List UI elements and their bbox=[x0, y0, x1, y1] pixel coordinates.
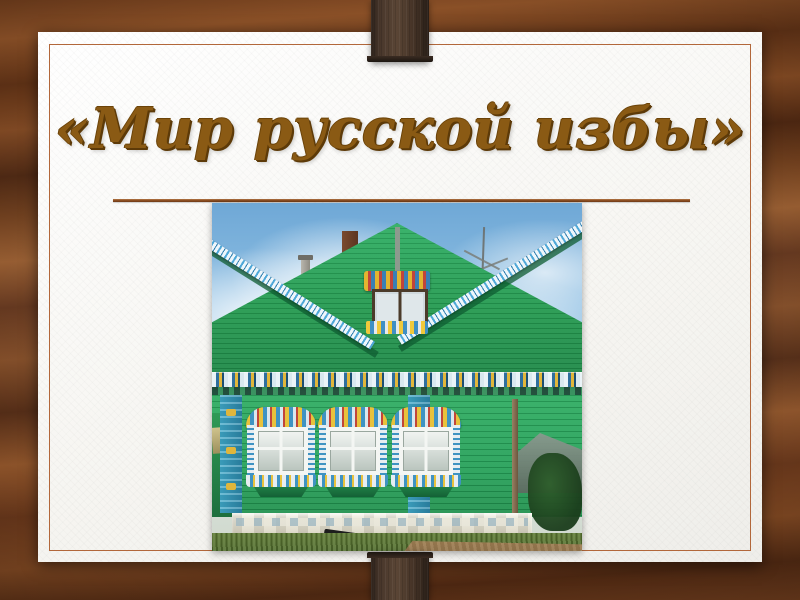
page-title-text: «Мир русской избы» bbox=[55, 96, 746, 162]
window-side-trim bbox=[453, 425, 460, 477]
attic-window bbox=[364, 275, 430, 337]
strap-top bbox=[371, 0, 429, 62]
window-side-trim bbox=[380, 425, 387, 477]
window-crown-carving bbox=[391, 407, 461, 429]
window-side-trim bbox=[247, 425, 254, 477]
window-apron bbox=[399, 487, 453, 497]
corner-pilaster-left bbox=[220, 395, 242, 513]
window-side-trim bbox=[392, 425, 399, 477]
window-side-trim bbox=[319, 425, 326, 477]
pilaster-stud bbox=[226, 447, 236, 454]
presentation-slide: «Мир русской избы» bbox=[0, 0, 800, 600]
window-side-trim bbox=[308, 425, 315, 477]
window-sill-carving bbox=[246, 475, 316, 487]
decorative-cornice bbox=[212, 372, 582, 387]
title-divider bbox=[113, 199, 690, 202]
window-glass bbox=[254, 427, 308, 475]
cornice-shadow-band bbox=[212, 387, 582, 395]
attic-window-apron bbox=[366, 321, 428, 334]
house-window bbox=[397, 409, 455, 495]
window-sill-carving bbox=[391, 475, 461, 487]
window-apron bbox=[254, 487, 308, 497]
pilaster-stud bbox=[226, 409, 236, 416]
attic-window-crown bbox=[364, 271, 430, 291]
bush bbox=[528, 453, 582, 531]
window-glass bbox=[326, 427, 380, 475]
window-glass bbox=[399, 427, 453, 475]
pilaster-stud bbox=[226, 483, 236, 490]
page-title: «Мир русской избы» bbox=[0, 86, 800, 172]
house-window bbox=[324, 409, 382, 495]
window-crown-carving bbox=[318, 407, 388, 429]
window-crown-carving bbox=[246, 407, 316, 429]
house-window bbox=[252, 409, 310, 495]
russian-izba-photo bbox=[212, 203, 582, 551]
window-apron bbox=[326, 487, 380, 497]
window-sill-carving bbox=[318, 475, 388, 487]
strap-bottom bbox=[371, 552, 429, 600]
